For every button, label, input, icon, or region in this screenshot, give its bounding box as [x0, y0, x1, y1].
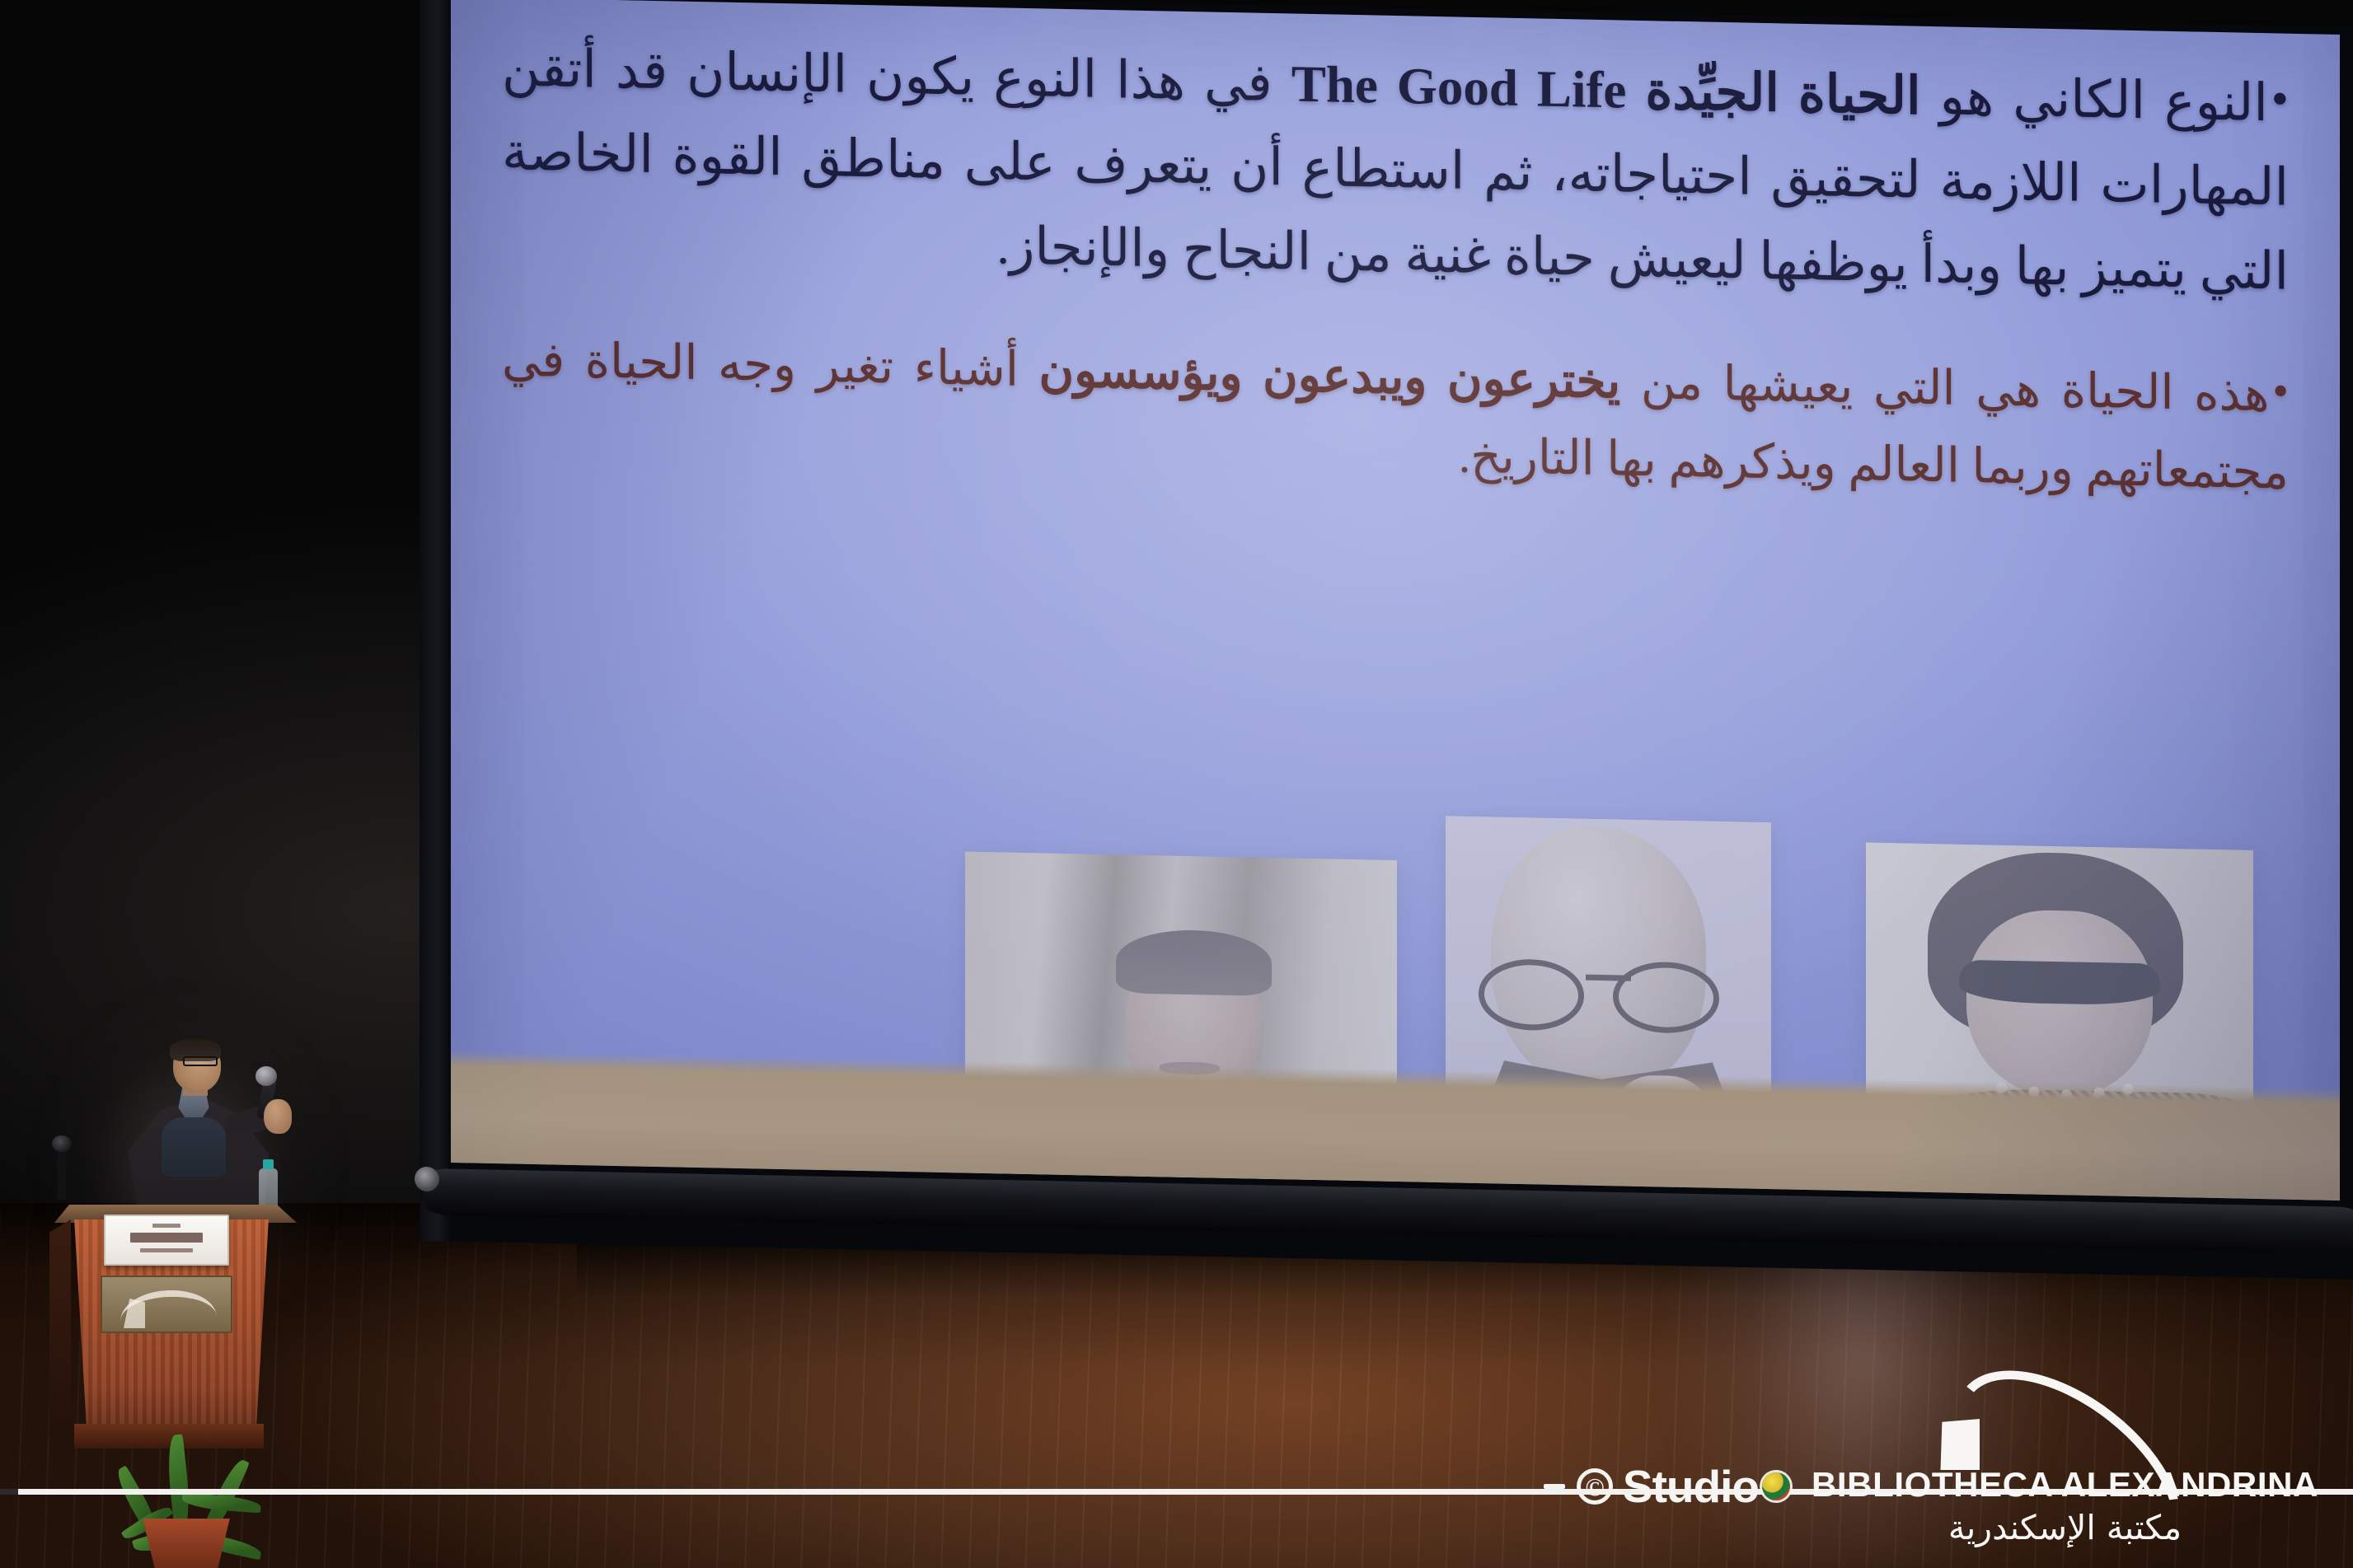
plant-leaf — [165, 1434, 193, 1533]
desk-microphone-stand — [58, 1149, 66, 1200]
bibliotheca-arch-icon — [1929, 1394, 2201, 1470]
plant-pot — [137, 1519, 236, 1568]
bibliotheca-arch-leg — [124, 1299, 145, 1328]
watermark-logo-block: © Studio BIBLIOTHECA ALEXANDRINA مكتبة ا… — [1544, 1392, 2318, 1549]
bottle-cap — [263, 1159, 274, 1169]
bullet-1-segment-latin-the-good-life: The Good Life — [1291, 54, 1627, 119]
screen-roller-end-cap — [415, 1167, 439, 1192]
bibliotheca-alexandrina-logo: BIBLIOTHECA ALEXANDRINA مكتبة الإسكندرية — [1812, 1394, 2318, 1547]
presenter-hand — [264, 1099, 292, 1134]
bullet-marker-1: • — [2271, 74, 2289, 124]
slide-text-content: •النوع الكاني هو الحياة الجيِّدة The Goo… — [451, 0, 2340, 513]
bullet-1-segment-bold-arabic: الحياة الجيِّدة — [1645, 62, 1920, 125]
presenter-sweater — [162, 1117, 226, 1177]
copyright-icon: © — [1577, 1468, 1613, 1505]
speaker-podium — [49, 1205, 297, 1444]
projection-screen: •النوع الكاني هو الحياة الجيِّدة The Goo… — [431, 0, 2353, 1241]
bullet-marker-2: • — [2273, 367, 2290, 413]
studio-dash — [1544, 1484, 1565, 1489]
slide-bullet-1: •النوع الكاني هو الحياة الجيِّدة The Goo… — [502, 26, 2289, 314]
podium-side-panel — [49, 1219, 71, 1435]
watermark-rule-notch — [0, 1489, 18, 1495]
presentation-slide: •النوع الكاني هو الحياة الجيِّدة The Goo… — [451, 0, 2340, 1201]
microphone-icon — [255, 1066, 277, 1086]
podium-nameplate — [104, 1215, 229, 1266]
lecture-hall-photo: •النوع الكاني هو الحياة الجيِّدة The Goo… — [0, 0, 2353, 1568]
arch-leg — [1940, 1419, 1980, 1470]
eyeglasses-icon — [183, 1056, 218, 1066]
nameplate-line-title — [152, 1224, 180, 1228]
bullet-2-segment-intro: هذه الحياة هي التي يعيشها من — [1620, 355, 2269, 422]
bullet-1-segment-intro: النوع الكاني هو — [1920, 68, 2267, 132]
bullet-2-segment-bold-verbs: يخترعون ويبدعون ويؤسسون — [1039, 343, 1621, 408]
nameplate-line-affiliation — [140, 1248, 193, 1252]
podium-bibliotheca-plaque — [101, 1275, 232, 1333]
screen-left-post — [420, 0, 452, 1242]
nameplate-line-name — [130, 1233, 203, 1243]
slide-bullet-2: •هذه الحياة هي التي يعيشها من يخترعون وي… — [502, 321, 2289, 511]
studio-wordmark: Studio — [1623, 1460, 1759, 1513]
speaker-group — [49, 1030, 330, 1442]
plant-leaf — [181, 1493, 261, 1514]
presenter-figure — [119, 1038, 275, 1228]
studio-credit: © Studio — [1544, 1460, 1790, 1513]
globe-icon — [1762, 1472, 1790, 1500]
institution-name-english: BIBLIOTHECA ALEXANDRINA — [1812, 1465, 2318, 1505]
